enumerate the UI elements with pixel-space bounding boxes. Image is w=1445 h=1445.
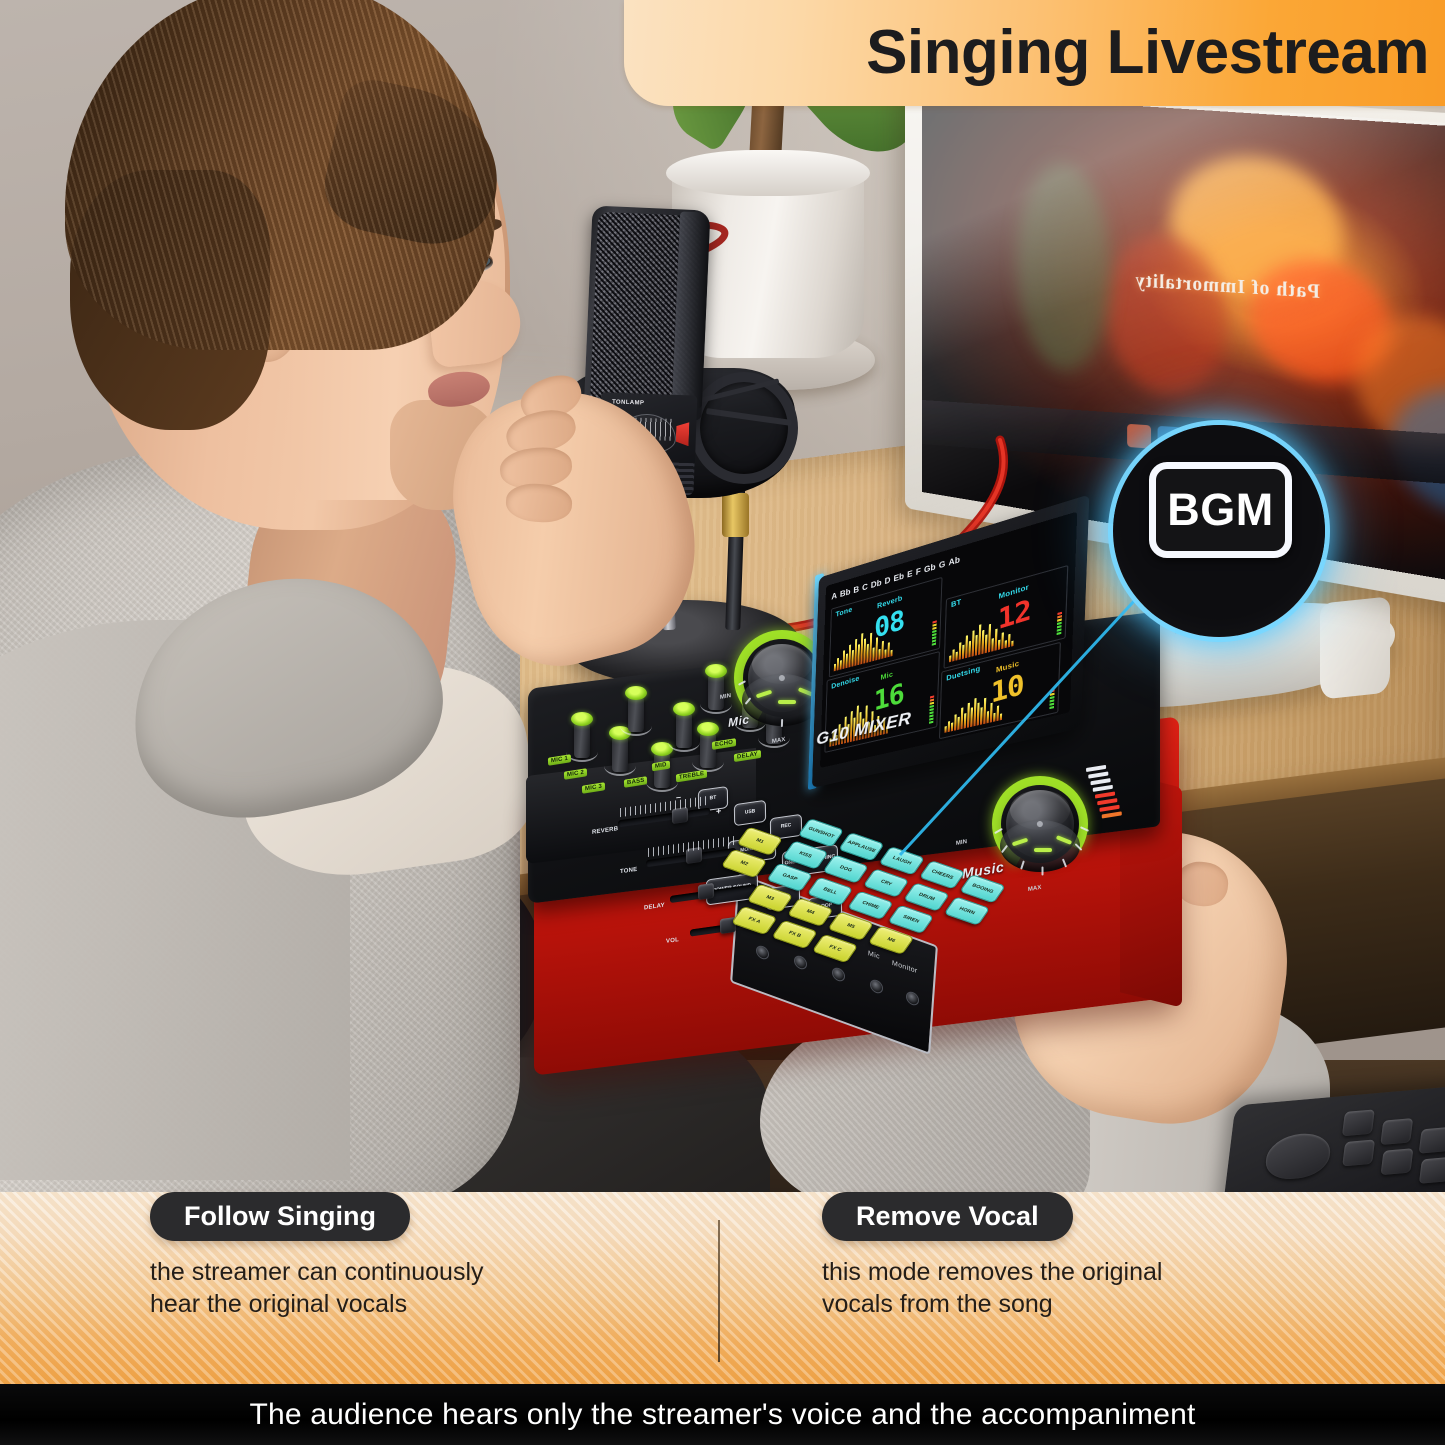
lifestyle-photo-scene: Path of Immortality T: [0, 0, 1445, 1195]
feature-panel: Follow Singing the streamer can continuo…: [0, 1192, 1445, 1384]
product-marketing-image: Path of Immortality T: [0, 0, 1445, 1445]
page-title: Singing Livestream: [866, 22, 1429, 84]
feature-column-divider: [718, 1220, 720, 1362]
feature-badge-follow-singing: Follow Singing: [150, 1192, 410, 1241]
feature-badge-remove-vocal: Remove Vocal: [822, 1192, 1073, 1241]
feature-column-remove-vocal: Remove Vocal this mode removes the origi…: [822, 1192, 1162, 1384]
header-banner: Singing Livestream: [624, 0, 1445, 106]
feature-column-follow-singing: Follow Singing the streamer can continuo…: [150, 1192, 484, 1384]
feature-description-follow-singing: the streamer can continuously hear the o…: [150, 1256, 484, 1320]
footer-caption: The audience hears only the streamer's v…: [249, 1398, 1195, 1432]
feature-description-remove-vocal: this mode removes the original vocals fr…: [822, 1256, 1162, 1320]
bgm-badge-label: BGM: [1149, 462, 1292, 558]
footer-bar: The audience hears only the streamer's v…: [0, 1384, 1445, 1445]
